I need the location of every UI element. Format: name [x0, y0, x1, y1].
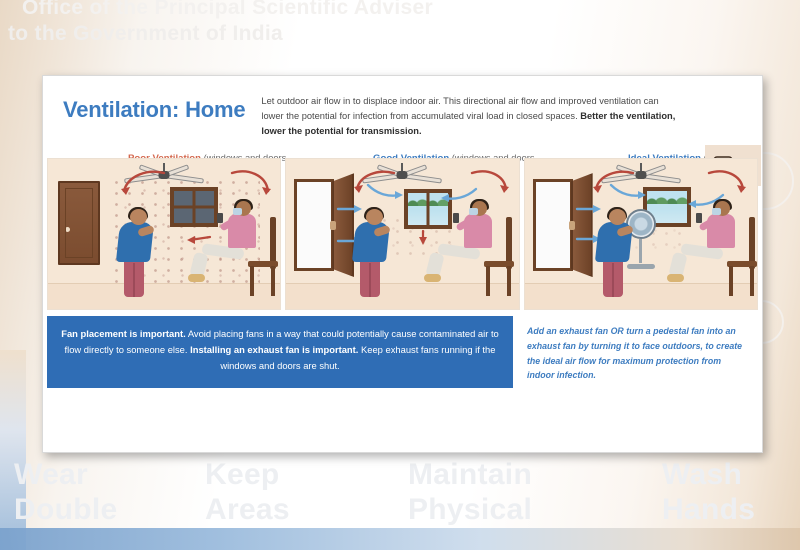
page-title: Ventilation: Home: [63, 94, 245, 123]
floor: [525, 283, 757, 309]
poster-header: Ventilation: Home Let outdoor air flow i…: [43, 76, 762, 139]
airflow-arrow-red-left: [114, 167, 168, 201]
face-mask-icon: [233, 208, 242, 215]
person-legs: [603, 259, 623, 297]
watermark-bottom-item-1: Wear Double: [14, 458, 117, 528]
closed-window: [170, 187, 218, 227]
watermark-bottom-item-3-line1: Maintain: [408, 458, 532, 493]
illustration-panels: [43, 158, 762, 310]
poster-intro-text: Let outdoor air flow in to displace indo…: [261, 94, 676, 139]
airflow-arrow-blue-in-left: [605, 181, 649, 207]
airflow-arrow-blue-door-upper: [336, 203, 366, 215]
pedestal-fan-pole: [639, 239, 642, 263]
slide-bottom-accent-strip: [0, 528, 800, 550]
fan-placement-banner-bold2: Installing an exhaust fan is important.: [190, 344, 358, 355]
presentation-slide: Office of the Principal Scientific Advis…: [0, 0, 800, 550]
watermark-bottom-item-4: Wash Hands: [662, 458, 755, 528]
airflow-arrow-blue-in-left: [362, 181, 406, 207]
seated-person-shoe: [424, 274, 441, 282]
door-knob: [569, 221, 575, 230]
fan-placement-banner: Fan placement is important. Avoid placin…: [47, 316, 513, 388]
airflow-arrow-red-right: [228, 167, 276, 201]
airflow-arrow-red-down: [414, 229, 432, 249]
watermark-bottom-item-3: Maintain Physical: [408, 458, 532, 528]
watermark-bottom-item-3-line2: Physical: [408, 493, 532, 528]
seated-person-shoe: [667, 274, 684, 282]
watermark-bottom-item-2-line1: Keep: [205, 458, 290, 493]
watermark-bottom-item-2-line2: Areas: [205, 493, 290, 528]
fan-placement-banner-bold1: Fan placement is important.: [61, 328, 186, 339]
open-door-frame: [294, 179, 334, 271]
exhaust-fan-note: Add an exhaust fan OR turn a pedestal fa…: [513, 316, 758, 388]
airflow-arrow-blue-door-upper: [575, 203, 605, 215]
ventilation-poster-card: Ventilation: Home Let outdoor air flow i…: [42, 75, 763, 453]
watermark-bottom-item-2: Keep Areas: [205, 458, 290, 528]
person-head: [609, 209, 626, 225]
panel-captions-row: Poor Ventilation (windows and doors shut…: [43, 143, 762, 158]
person-legs: [360, 259, 380, 297]
open-door-frame: [533, 179, 573, 271]
window-mullion-vertical: [427, 193, 430, 225]
closed-door: [58, 181, 100, 265]
watermark-header-line1: Office of the Principal Scientific Advis…: [22, 0, 433, 20]
window-foliage: [647, 191, 687, 204]
poor-ventilation-illustration: [47, 158, 281, 310]
face-mask-icon: [712, 208, 721, 215]
watermark-bottom-item-4-line2: Hands: [662, 493, 755, 528]
person-legs: [124, 259, 144, 297]
good-ventilation-illustration: [285, 158, 519, 310]
phone-icon: [453, 213, 459, 223]
watermark-bottom-item-1-line2: Double: [14, 493, 117, 528]
window-mullion-horizontal: [174, 206, 214, 209]
face-mask-icon: [469, 208, 478, 215]
ideal-ventilation-illustration: [524, 158, 758, 310]
phone-icon: [696, 213, 702, 223]
phone-icon: [217, 213, 223, 223]
poster-footer: Fan placement is important. Avoid placin…: [43, 310, 762, 388]
watermark-bottom-item-1-line1: Wear: [14, 458, 117, 493]
door-knob: [330, 221, 336, 230]
seated-person-shoe: [188, 274, 205, 282]
watermark-bottom-item-4-line1: Wash: [662, 458, 755, 493]
door-knob: [65, 227, 70, 232]
watermark-header-line2: to the Government of India: [8, 22, 283, 46]
pedestal-fan-base: [627, 264, 655, 269]
